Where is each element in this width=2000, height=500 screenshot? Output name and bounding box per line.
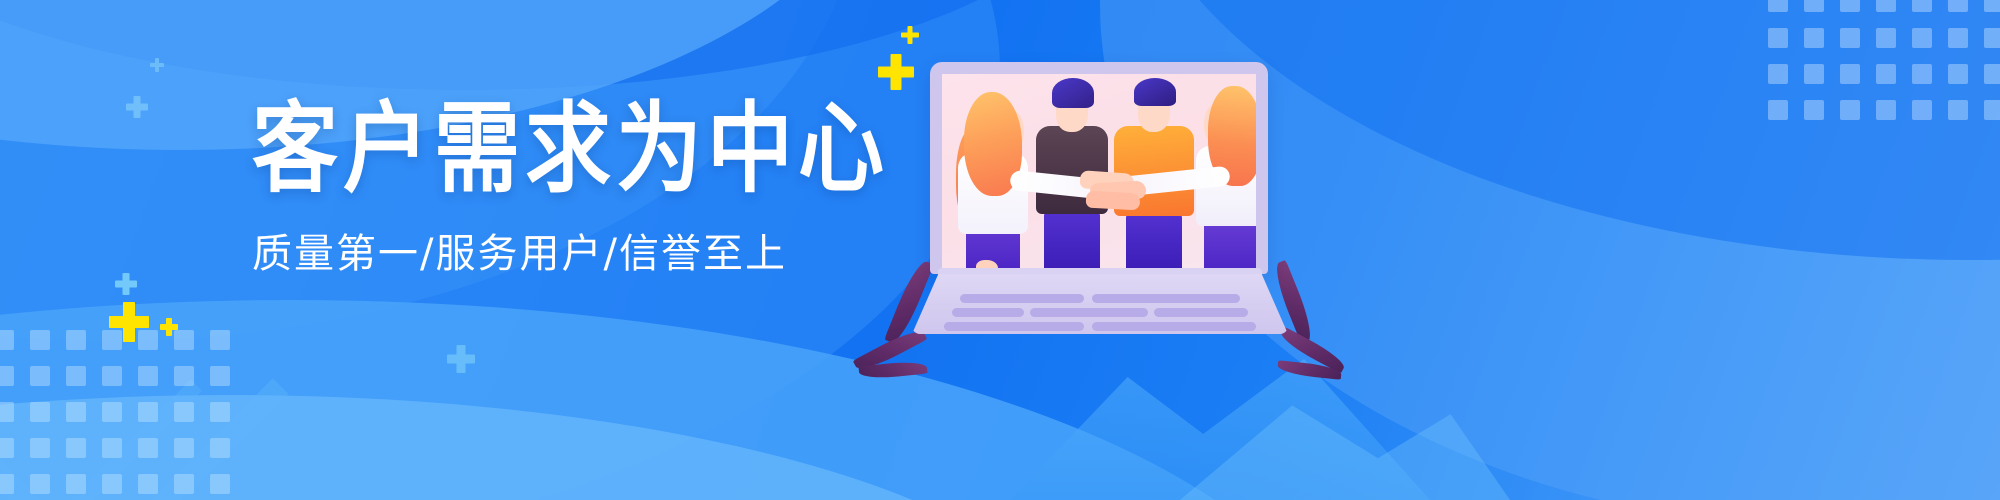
grid-square	[210, 474, 230, 494]
grid-square	[1804, 28, 1824, 48]
grid-square	[138, 474, 158, 494]
grid-square	[0, 366, 14, 386]
keyboard-key-row	[1092, 322, 1256, 331]
grid-square	[102, 366, 122, 386]
grid-square	[66, 438, 86, 458]
laptop-teamwork-illustration	[912, 62, 1288, 340]
grid-square	[30, 402, 50, 422]
grid-square	[1840, 28, 1860, 48]
laptop-lid	[930, 62, 1268, 274]
keyboard-key-row	[1030, 308, 1148, 317]
grid-square	[174, 474, 194, 494]
grid-square	[138, 438, 158, 458]
grid-square	[1984, 64, 2000, 84]
grid-square	[30, 474, 50, 494]
grid-square	[66, 366, 86, 386]
grid-square	[1804, 100, 1824, 120]
grid-square	[1768, 0, 1788, 12]
grid-square	[1768, 28, 1788, 48]
grid-square	[1804, 0, 1824, 12]
laptop-screen	[942, 74, 1256, 274]
grid-square	[210, 330, 230, 350]
sparkle-cross-icon	[109, 302, 149, 342]
keyboard-key-row	[960, 294, 1084, 303]
grid-square	[1840, 0, 1860, 12]
grid-square	[1876, 100, 1896, 120]
sparkle-cross-icon	[126, 96, 148, 118]
grid-square	[30, 366, 50, 386]
grid-square	[174, 366, 194, 386]
grid-square	[210, 402, 230, 422]
grid-square	[1912, 0, 1932, 12]
grid-square	[1948, 28, 1968, 48]
laptop-base	[912, 268, 1288, 340]
grid-square	[1984, 0, 2000, 12]
sparkle-cross-icon	[115, 273, 137, 295]
person-hair	[1052, 78, 1094, 108]
grid-square	[1876, 64, 1896, 84]
grid-square	[1912, 28, 1932, 48]
sparkle-cross-icon	[150, 58, 164, 72]
decor-grid-bottom-left	[0, 330, 230, 494]
grid-square	[0, 438, 14, 458]
sparkle-cross-icon	[447, 345, 475, 373]
grid-square	[30, 438, 50, 458]
grid-square	[1948, 100, 1968, 120]
grid-square	[1804, 64, 1824, 84]
decor-grid-top-right	[1768, 0, 2000, 120]
grid-square	[102, 474, 122, 494]
grid-square	[102, 438, 122, 458]
person-trousers	[1126, 212, 1182, 274]
sparkle-cross-icon	[160, 318, 178, 336]
grid-square	[138, 402, 158, 422]
grid-square	[174, 438, 194, 458]
keyboard-key-row	[1154, 308, 1248, 317]
grid-square	[30, 330, 50, 350]
joined-hands-group	[1046, 170, 1196, 212]
laptop-keyboard-deck	[912, 274, 1288, 334]
grid-square	[1984, 100, 2000, 120]
keyboard-key-row	[1092, 294, 1240, 303]
person-hair	[1134, 78, 1176, 106]
promotional-banner: 客户需求为中心 质量第一/服务用户/信誉至上	[0, 0, 2000, 500]
grid-square	[1948, 0, 1968, 12]
grid-square	[1948, 64, 1968, 84]
grid-square	[0, 402, 14, 422]
grid-square	[174, 402, 194, 422]
grid-square	[1876, 28, 1896, 48]
grid-square	[0, 330, 14, 350]
grid-square	[1984, 28, 2000, 48]
banner-text-block: 客户需求为中心 质量第一/服务用户/信誉至上	[252, 98, 872, 276]
grid-square	[1768, 100, 1788, 120]
keyboard-key-row	[952, 308, 1024, 317]
sparkle-cross-icon	[901, 26, 919, 44]
person-hand	[1086, 191, 1141, 211]
grid-square	[66, 474, 86, 494]
grid-square	[102, 402, 122, 422]
grid-square	[0, 474, 14, 494]
grid-square	[1912, 100, 1932, 120]
sparkle-cross-icon	[878, 54, 914, 90]
grid-square	[1840, 100, 1860, 120]
grid-square	[210, 438, 230, 458]
keyboard-key-row	[944, 322, 1084, 331]
grid-square	[1768, 64, 1788, 84]
grid-square	[1912, 64, 1932, 84]
person-trousers	[1044, 210, 1100, 274]
grid-square	[66, 402, 86, 422]
grid-square	[1840, 64, 1860, 84]
grid-square	[138, 366, 158, 386]
grid-square	[66, 330, 86, 350]
grid-square	[210, 366, 230, 386]
grid-square	[1876, 0, 1896, 12]
banner-headline: 客户需求为中心	[252, 98, 872, 201]
